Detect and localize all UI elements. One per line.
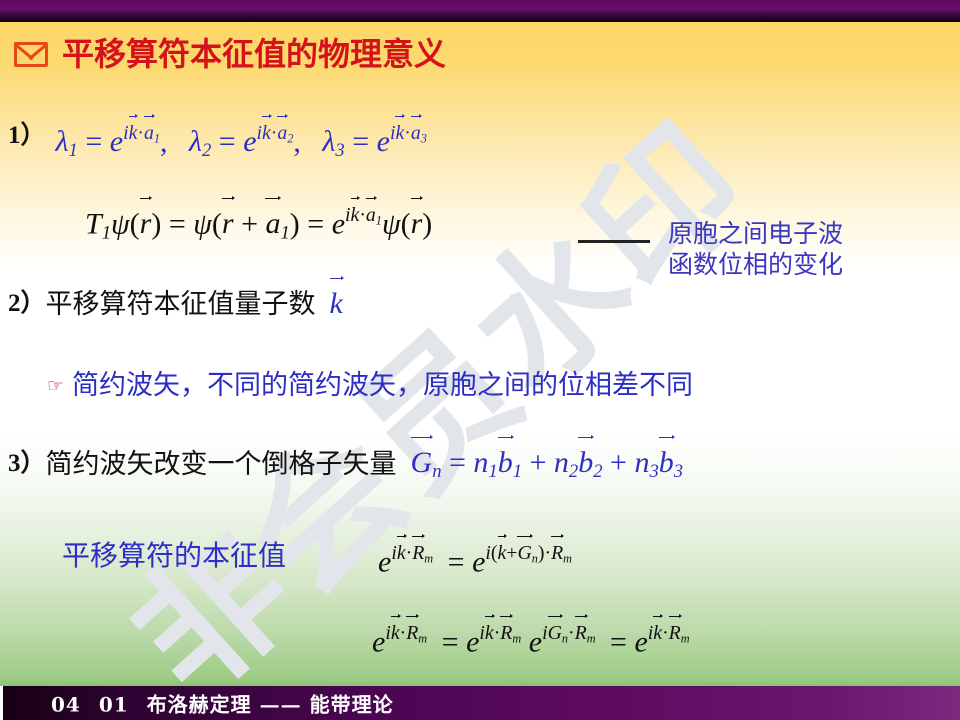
highlight-row: 简约波矢，不同的简约波矢，原胞之间的位相差不同 — [47, 370, 693, 401]
equation-eigenvalue-expanded: eik·Rm = eik·Rm eiGn·Rm = eik·Rm — [372, 622, 690, 660]
equation-eigenvalue: eik·Rm = ei(k+Gn)·Rm — [378, 542, 572, 580]
footer-section: 01 — [99, 693, 129, 717]
item-number-1: 1） — [8, 122, 46, 151]
top-decoration-band — [0, 0, 960, 22]
list-item-2: 2） 平移算符本征值量子数 k — [8, 287, 343, 322]
slide-content: 平移算符本征值的物理意义 1） λ1 = eik·a1, λ2 = eik·a2… — [0, 22, 960, 686]
annotation-line-2: 函数位相的变化 — [668, 249, 843, 280]
item-3-text: 简约波矢改变一个倒格子矢量 — [46, 449, 397, 480]
footer-chapter: 04 — [51, 693, 81, 717]
lambda-eq-3: λ3 = eik·a3 — [322, 125, 426, 158]
footer-text: 0401布洛赫定理 —— 能带理论 — [51, 689, 394, 718]
item-number-3: 3） — [8, 450, 46, 479]
slide: 非会员水印 平移算符本征值的物理意义 1） λ1 = eik·a1, λ2 = … — [0, 0, 960, 720]
annotation-note: 原胞之间电子波 函数位相的变化 — [668, 218, 843, 281]
page-title-text: 平移算符本征值的物理意义 — [62, 38, 446, 70]
lambda-eq-2: λ2 = eik·a2 — [189, 125, 293, 158]
slide-footer: 0401布洛赫定理 —— 能带理论 — [0, 686, 960, 720]
leader-dash — [578, 240, 650, 243]
footer-title: 布洛赫定理 —— 能带理论 — [147, 693, 394, 717]
item-2-text: 平移算符本征值量子数 — [46, 289, 316, 320]
page-title: 平移算符本征值的物理意义 — [14, 38, 446, 70]
list-item-3: 3） 简约波矢改变一个倒格子矢量 Gn = n1b1 + n2b2 + n3b3 — [8, 446, 683, 483]
annotation-line-1: 原胞之间电子波 — [668, 218, 843, 249]
highlight-text: 简约波矢，不同的简约波矢，原胞之间的位相差不同 — [72, 370, 693, 401]
pointing-hand-icon — [47, 377, 63, 395]
list-item-1: 1） λ1 = eik·a1, λ2 = eik·a2, λ3 = eik·a3 — [8, 122, 427, 162]
lambda-eq-1: λ1 = eik·a1 — [56, 125, 160, 158]
equation-reciprocal-vector: Gn = n1b1 + n2b2 + n3b3 — [411, 446, 684, 483]
item-number-2: 2） — [8, 290, 46, 319]
equation-translation-psi: T1ψ(r) = ψ(r + a1) = eik·a1ψ(r) — [85, 204, 432, 244]
k-vector-symbol: k — [330, 287, 343, 322]
eigenvalue-label: 平移算符的本征值 — [62, 540, 286, 572]
envelope-icon — [14, 42, 48, 67]
lambda-equations: λ1 = eik·a1, λ2 = eik·a2, λ3 = eik·a3 — [56, 122, 427, 162]
